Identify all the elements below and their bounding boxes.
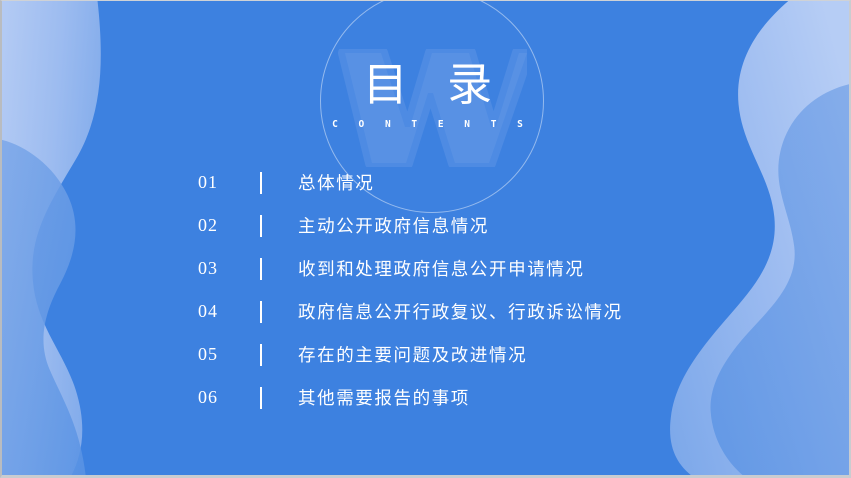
contents-item-label: 主动公开政府信息情况 — [298, 213, 489, 238]
contents-item-label: 存在的主要问题及改进情况 — [298, 342, 527, 367]
contents-list: 01 总体情况 02 主动公开政府信息情况 03 收到和处理政府信息公开申请情况… — [2, 161, 851, 419]
list-item[interactable]: 02 主动公开政府信息情况 — [2, 204, 851, 247]
contents-item-number: 01 — [198, 172, 260, 193]
list-item[interactable]: 06 其他需要报告的事项 — [2, 376, 851, 419]
page-title: 目 录 — [2, 63, 851, 109]
contents-item-divider — [260, 215, 262, 237]
contents-item-number: 05 — [198, 344, 260, 365]
list-item[interactable]: 01 总体情况 — [2, 161, 851, 204]
contents-item-divider — [260, 301, 262, 323]
contents-item-label: 收到和处理政府信息公开申请情况 — [298, 256, 585, 281]
presentation-slide: 目 录 C O N T E N T S 01 总体情况 02 主动公开政府信息情… — [0, 0, 851, 478]
list-item[interactable]: 05 存在的主要问题及改进情况 — [2, 333, 851, 376]
contents-item-label: 政府信息公开行政复议、行政诉讼情况 — [298, 299, 623, 324]
slide-header: 目 录 C O N T E N T S — [2, 63, 851, 130]
list-item[interactable]: 04 政府信息公开行政复议、行政诉讼情况 — [2, 290, 851, 333]
contents-item-number: 02 — [198, 215, 260, 236]
contents-item-number: 03 — [198, 258, 260, 279]
contents-item-number: 04 — [198, 301, 260, 322]
page-subtitle: C O N T E N T S — [2, 119, 851, 130]
list-item[interactable]: 03 收到和处理政府信息公开申请情况 — [2, 247, 851, 290]
contents-item-number: 06 — [198, 387, 260, 408]
contents-item-label: 总体情况 — [298, 170, 374, 195]
contents-item-label: 其他需要报告的事项 — [298, 385, 470, 410]
contents-item-divider — [260, 344, 262, 366]
contents-item-divider — [260, 387, 262, 409]
contents-item-divider — [260, 258, 262, 280]
contents-item-divider — [260, 172, 262, 194]
